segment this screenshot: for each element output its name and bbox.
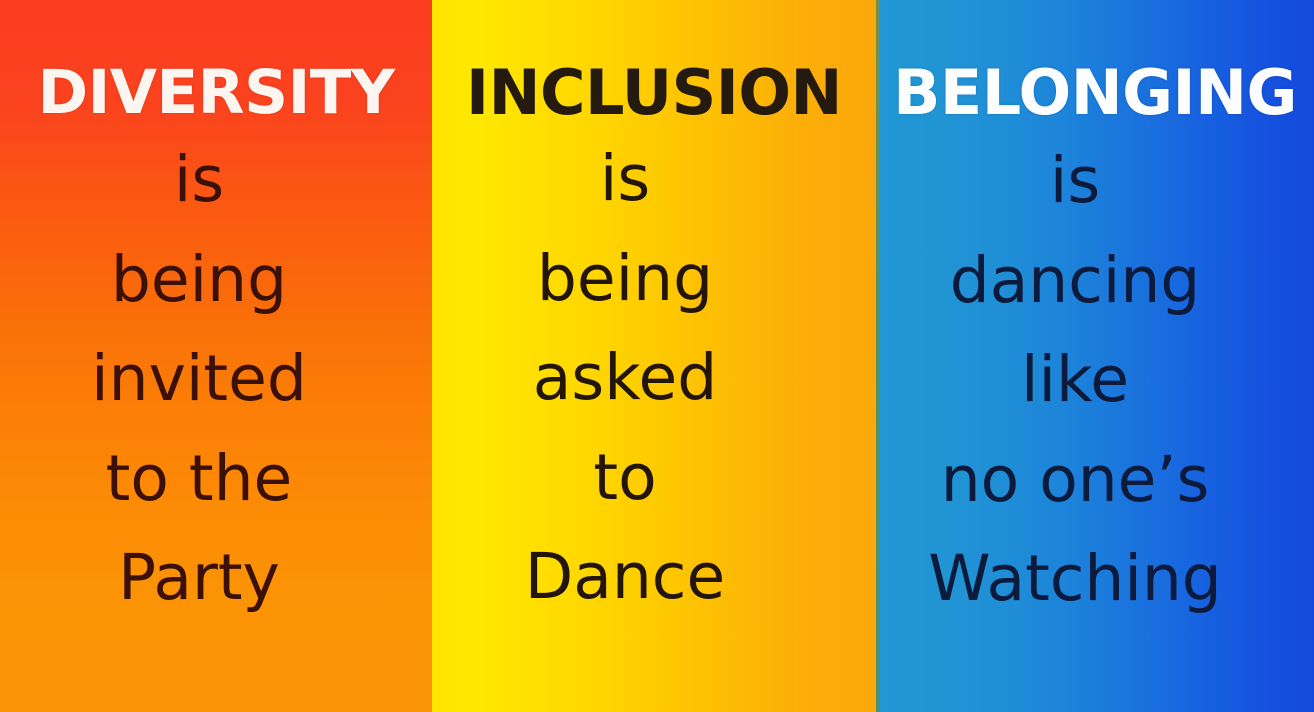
body-line: is — [174, 147, 224, 213]
dib-poster: DIVERSITY is being invited to the Party … — [0, 0, 1314, 712]
body-line: to — [593, 445, 656, 511]
panel-inclusion-body: is being asked to Dance — [432, 146, 876, 644]
body-line: being — [537, 246, 713, 312]
body-line: being — [111, 247, 287, 313]
panel-belonging-headline: BELONGING — [876, 62, 1314, 124]
body-line: to the — [106, 446, 293, 512]
body-line: is — [1050, 148, 1100, 214]
panel-diversity-headline: DIVERSITY — [0, 62, 432, 123]
body-line: like — [1021, 347, 1129, 413]
body-line: dancing — [950, 248, 1201, 314]
body-line: invited — [91, 346, 307, 412]
body-line: Party — [118, 545, 280, 611]
body-line: no one’s — [941, 447, 1210, 513]
panel-inclusion: INCLUSION is being asked to Dance — [432, 0, 876, 712]
panel-diversity: DIVERSITY is being invited to the Party — [0, 0, 432, 712]
panel-inclusion-headline: INCLUSION — [432, 62, 876, 124]
body-line: is — [600, 146, 650, 212]
panel-belonging: BELONGING is dancing like no one’s Watch… — [876, 0, 1314, 712]
body-line: Dance — [525, 544, 725, 610]
panel-diversity-body: is being invited to the Party — [0, 147, 432, 645]
body-line: Watching — [928, 546, 1222, 612]
panel-belonging-body: is dancing like no one’s Watching — [876, 148, 1314, 646]
body-line: asked — [533, 345, 717, 411]
